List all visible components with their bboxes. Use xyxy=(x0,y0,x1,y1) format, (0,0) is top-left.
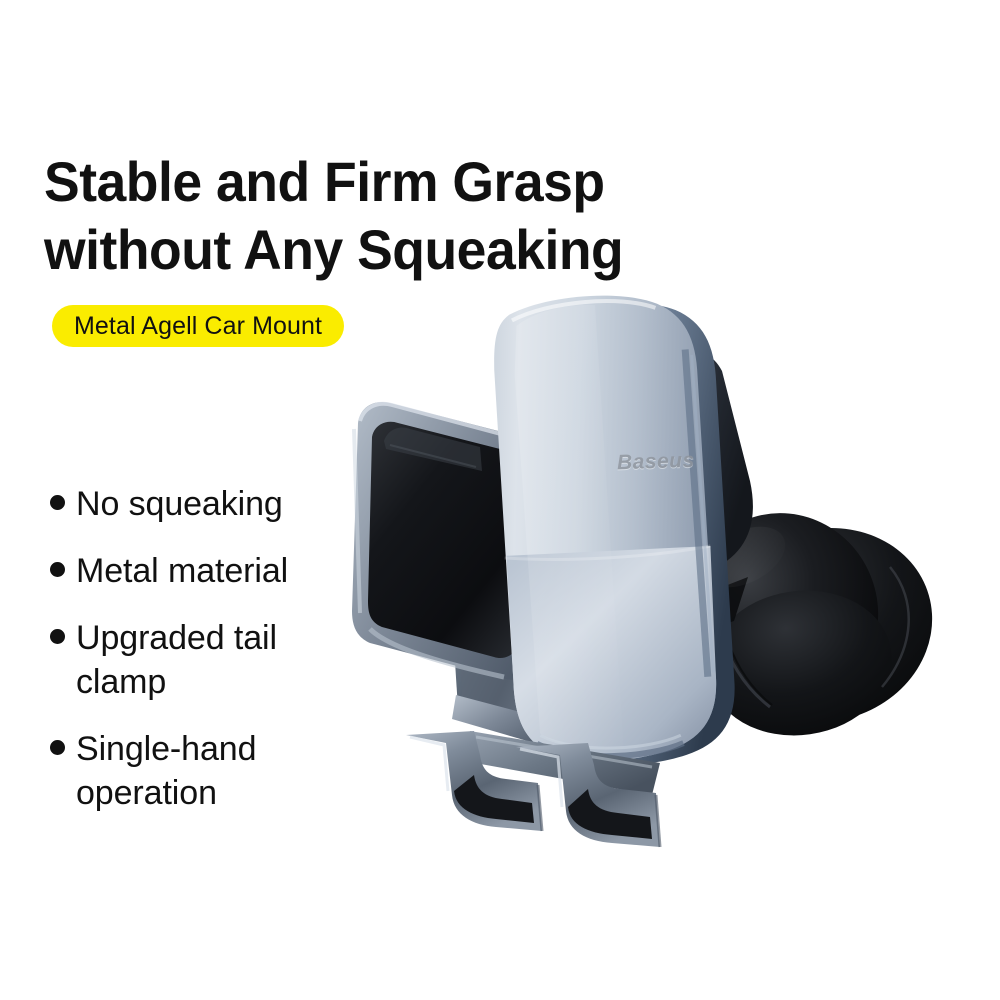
feature-label: Upgraded tail clamp xyxy=(76,616,370,704)
car-mount-illustration xyxy=(330,295,1000,865)
product-name-badge: Metal Agell Car Mount xyxy=(52,305,344,347)
product-name-badge-label: Metal Agell Car Mount xyxy=(74,312,322,341)
feature-label: No squeaking xyxy=(76,482,283,526)
feature-label: Metal material xyxy=(76,549,288,593)
bullet-icon xyxy=(50,629,65,644)
bullet-icon xyxy=(50,495,65,510)
headline-line-2: without Any Squeaking xyxy=(44,216,770,284)
page-title: Stable and Firm Grasp without Any Squeak… xyxy=(44,148,770,284)
product-image: Baseus xyxy=(330,295,1000,865)
list-item: Metal material xyxy=(50,549,370,593)
faceplate xyxy=(480,295,749,775)
bullet-icon xyxy=(50,740,65,755)
feature-label: Single-hand operation xyxy=(76,727,370,815)
feature-list: No squeaking Metal material Upgraded tai… xyxy=(50,482,370,838)
headline-line-1: Stable and Firm Grasp xyxy=(44,148,770,216)
product-marketing-banner: Stable and Firm Grasp without Any Squeak… xyxy=(0,0,1000,1000)
list-item: Upgraded tail clamp xyxy=(50,616,370,704)
list-item: Single-hand operation xyxy=(50,727,370,815)
list-item: No squeaking xyxy=(50,482,370,526)
bullet-icon xyxy=(50,562,65,577)
